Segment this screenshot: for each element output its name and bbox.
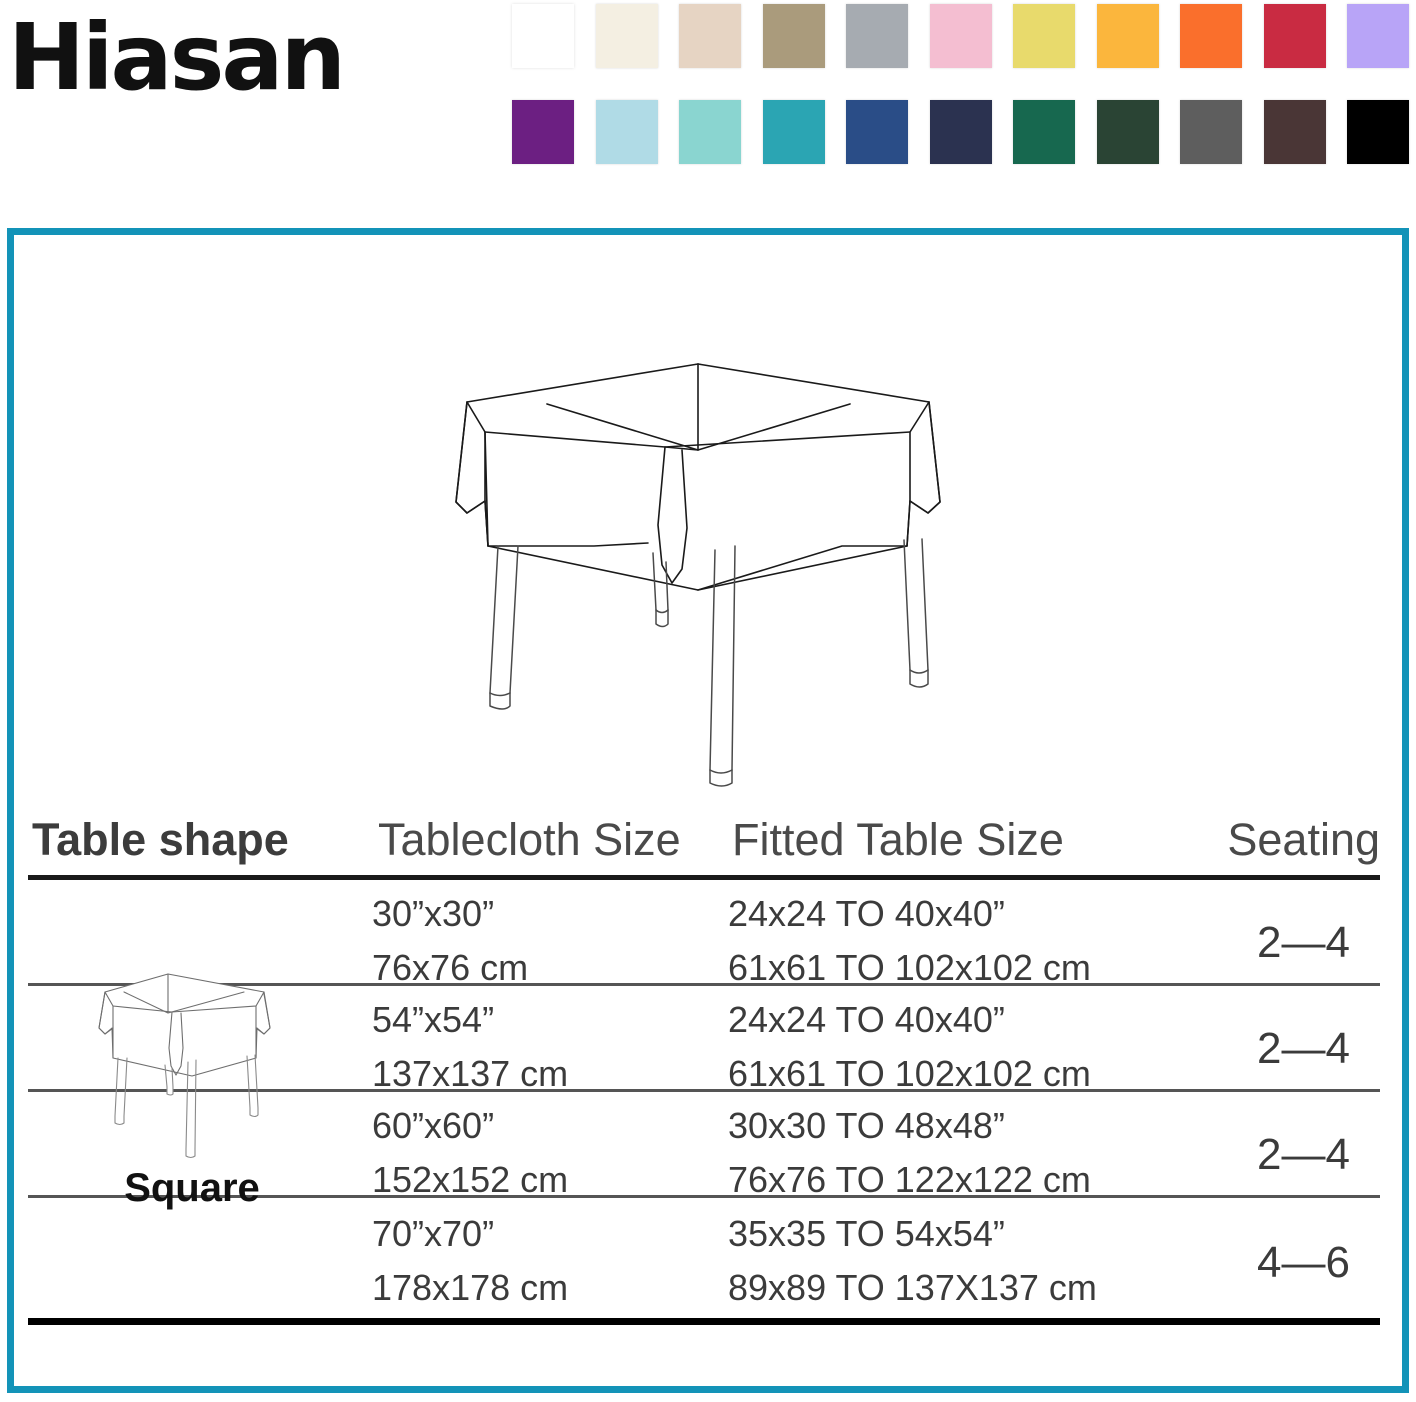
- color-swatch-row-2: [512, 100, 1416, 164]
- column-header-seating: Seating: [1188, 806, 1380, 874]
- color-swatch-taupe[interactable]: [763, 4, 825, 68]
- color-swatch-gray[interactable]: [846, 4, 908, 68]
- cell-seating: 2—4: [1188, 918, 1380, 968]
- color-swatch-white[interactable]: [512, 4, 574, 68]
- brand-header: Hiasan: [0, 0, 1416, 215]
- color-swatch-light-blue[interactable]: [596, 100, 658, 164]
- color-swatch-navy[interactable]: [930, 100, 992, 164]
- shape-cell: Square: [46, 966, 338, 1216]
- color-swatch-green[interactable]: [1013, 100, 1075, 164]
- color-swatch-beige[interactable]: [679, 4, 741, 68]
- cell-seating: 2—4: [1188, 1024, 1380, 1074]
- column-header-fitted-table-size: Fitted Table Size: [732, 806, 1064, 874]
- square-table-thumbnail-icon: [64, 966, 320, 1162]
- color-swatch-brown[interactable]: [1264, 100, 1326, 164]
- color-swatch-ivory[interactable]: [596, 4, 658, 68]
- cell-fitted-inches: 24x24 TO 40x40”: [728, 896, 1005, 932]
- cell-tablecloth-cm: 137x137 cm: [372, 1056, 568, 1092]
- color-swatch-purple[interactable]: [512, 100, 574, 164]
- brand-logo: Hiasan: [8, 12, 343, 104]
- column-header-tablecloth-size: Tablecloth Size: [378, 806, 681, 874]
- column-header-shape: Table shape: [32, 806, 289, 874]
- color-swatch-row-1: [512, 4, 1416, 68]
- cell-tablecloth-inches: 30”x30”: [372, 896, 494, 932]
- color-swatch-charcoal[interactable]: [1180, 100, 1242, 164]
- color-swatch-red[interactable]: [1264, 4, 1326, 68]
- cell-seating: 2—4: [1188, 1130, 1380, 1180]
- shape-label: Square: [46, 1162, 338, 1214]
- color-swatch-teal[interactable]: [763, 100, 825, 164]
- color-swatch-grid: [512, 4, 1416, 174]
- cell-tablecloth-cm: 178x178 cm: [372, 1270, 568, 1306]
- color-swatch-lavender[interactable]: [1347, 4, 1409, 68]
- color-swatch-yellow[interactable]: [1013, 4, 1075, 68]
- square-table-illustration: [410, 340, 980, 800]
- color-swatch-dark-green[interactable]: [1097, 100, 1159, 164]
- color-swatch-black[interactable]: [1347, 100, 1409, 164]
- cell-seating: 4—6: [1188, 1238, 1380, 1288]
- color-swatch-pink[interactable]: [930, 4, 992, 68]
- cell-tablecloth-inches: 54”x54”: [372, 1002, 494, 1038]
- color-swatch-blue[interactable]: [846, 100, 908, 164]
- cell-fitted-cm: 89x89 TO 137X137 cm: [728, 1270, 1097, 1306]
- cell-tablecloth-inches: 70”x70”: [372, 1216, 494, 1252]
- cell-fitted-inches: 24x24 TO 40x40”: [728, 1002, 1005, 1038]
- color-swatch-gold[interactable]: [1097, 4, 1159, 68]
- cell-fitted-cm: 61x61 TO 102x102 cm: [728, 1056, 1091, 1092]
- cell-fitted-inches: 35x35 TO 54x54”: [728, 1216, 1005, 1252]
- cell-fitted-cm: 61x61 TO 102x102 cm: [728, 950, 1091, 986]
- color-swatch-orange[interactable]: [1180, 4, 1242, 68]
- bottom-rule: [28, 1318, 1380, 1325]
- table-header-row: Table shape Tablecloth Size Fitted Table…: [28, 806, 1384, 874]
- cell-fitted-cm: 76x76 TO 122x122 cm: [728, 1162, 1091, 1198]
- cell-fitted-inches: 30x30 TO 48x48”: [728, 1108, 1005, 1144]
- cell-tablecloth-inches: 60”x60”: [372, 1108, 494, 1144]
- cell-tablecloth-cm: 76x76 cm: [372, 950, 528, 986]
- cell-tablecloth-cm: 152x152 cm: [372, 1162, 568, 1198]
- color-swatch-aqua[interactable]: [679, 100, 741, 164]
